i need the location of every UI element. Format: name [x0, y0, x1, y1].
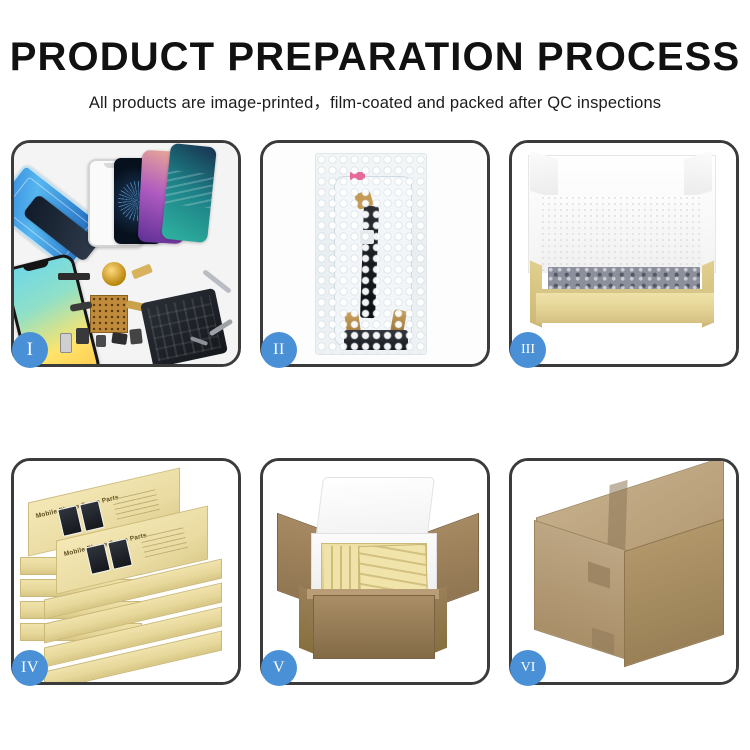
speaker-strip-part-graphic	[58, 273, 90, 280]
white-foam-sheet-graphic	[540, 195, 702, 273]
process-step-panel-4[interactable]: Mobile Phone Spare Parts Mobile Phone Sp…	[11, 458, 241, 685]
photo-stacked-retail-boxes: Mobile Phone Spare Parts Mobile Phone Sp…	[14, 461, 238, 682]
white-tab-graphic	[360, 230, 374, 244]
process-step-panel-6[interactable]: VI	[509, 458, 739, 685]
chip-grid-part-graphic	[90, 295, 128, 333]
foam-box-lid-graphic	[315, 477, 435, 541]
step-badge-4: IV	[12, 650, 48, 686]
bubble-bag-inner-outline	[334, 176, 412, 346]
screen-assembly-graphic	[360, 206, 379, 318]
foam-flap-left-graphic	[530, 151, 558, 199]
kraft-tray-front-graphic	[536, 293, 714, 323]
small-component-graphic	[60, 333, 72, 353]
small-component-graphic	[129, 328, 143, 344]
page-header: PRODUCT PREPARATION PROCESS All products…	[0, 0, 750, 113]
small-component-graphic	[76, 328, 89, 344]
step-badge-2: II	[261, 332, 297, 368]
step-badge-5: V	[261, 650, 297, 686]
photo-kraft-box-with-foam	[512, 143, 736, 364]
bubble-wrap-bag-graphic	[315, 153, 427, 355]
step-badge-1: I	[12, 332, 48, 368]
gold-flex-foot-right-graphic	[390, 309, 407, 335]
page-title: PRODUCT PREPARATION PROCESS	[0, 0, 750, 78]
gold-boxes-stack-graphic	[358, 544, 428, 594]
step-badge-3: III	[510, 332, 546, 368]
small-component-graphic	[111, 332, 127, 345]
carton-front-graphic	[313, 595, 435, 659]
phone-back-housing-graphic	[140, 288, 228, 364]
page-subtitle: All products are image-printed，film-coat…	[0, 78, 750, 113]
process-step-panel-1[interactable]: I	[11, 140, 241, 367]
process-step-panel-3[interactable]: III	[509, 140, 739, 367]
gold-flex-foot-left-graphic	[344, 311, 362, 341]
process-step-grid: I II	[11, 140, 739, 685]
process-step-panel-5[interactable]: V	[260, 458, 490, 685]
pink-qc-label-graphic	[350, 172, 365, 180]
process-step-panel-2[interactable]: II	[260, 140, 490, 367]
assembly-base-graphic	[344, 330, 408, 350]
small-component-graphic	[96, 335, 106, 347]
photo-carton-with-foam-insert	[263, 461, 487, 682]
photo-phone-screens-and-spare-parts	[14, 143, 238, 364]
photo-part-in-bubble-wrap	[263, 143, 487, 364]
gold-connector-part-graphic	[131, 264, 153, 280]
foam-flap-right-graphic	[684, 151, 712, 199]
photo-sealed-shipping-carton	[512, 461, 736, 682]
step-badge-6: VI	[510, 650, 546, 686]
gold-coil-part-graphic	[102, 262, 126, 286]
gold-connector-graphic	[354, 190, 374, 210]
teal-phone-graphic	[161, 143, 217, 243]
